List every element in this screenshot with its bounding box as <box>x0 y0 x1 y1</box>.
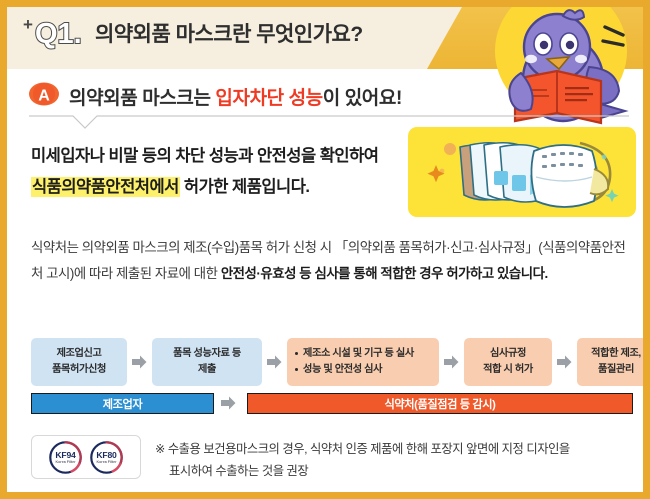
kf-badge-box: KF94 Korea Filter KF80 Korea Filter <box>31 435 141 479</box>
lead-line2-rest: 허가한 제품입니다. <box>180 178 310 196</box>
role-bar-mfds-label: 식약처(품질점검 등 감시) <box>385 396 496 412</box>
infographic-poster: + Q1. 의약외품 마스크란 무엇인가요? A 의약외품 마스크는 입자차단 … <box>0 0 650 499</box>
flow-step-1-line-2: 품목허가신청 <box>52 362 106 378</box>
svg-text:A: A <box>38 88 50 105</box>
flow-step-4: 심사규정 적합 시 허가 <box>464 338 552 386</box>
flow-step-1-line-1: 제조업신고 <box>57 346 102 362</box>
flow-arrow-4-icon <box>557 355 572 369</box>
body-segment-1: 식약처는 의약외품 마스크의 제조(수입)품목 허가 신청 시 「의약외품 품목… <box>31 240 538 255</box>
role-bar-mfds: 식약처(품질점검 등 감시) <box>247 393 633 414</box>
lead-paragraph: 미세입자나 비말 등의 차단 성능과 안전성을 확인하여 식품의약품안전처에서 … <box>31 141 401 202</box>
answer-badge-icon: A <box>29 79 59 109</box>
flow-step-2-line-2: 제출 <box>198 362 216 378</box>
kf80-sublabel: Korea Filter <box>97 460 117 464</box>
footnote-line-2: 표시하여 수출하는 것을 권장 <box>155 461 633 483</box>
body-segment-3: 안전성·유효성 등 심사를 통해 적합한 경우 허가하고 있습니다. <box>221 266 548 281</box>
role-arrow-icon <box>221 396 236 410</box>
flow-step-3-bullet-2: 성능 및 안전성 심사 <box>295 362 382 378</box>
mask-layers-icon <box>408 127 636 217</box>
answer-text-highlight: 입자차단 성능 <box>215 88 322 109</box>
kf80-badge-icon: KF80 Korea Filter <box>90 441 123 474</box>
footnote-text: ※ 수출용 보건용마스크의 경우, 식약처 인증 제품에 한해 포장지 앞면에 … <box>155 439 633 482</box>
answer-text-after: 이 있어요! <box>323 88 402 109</box>
process-flowchart: 제조업신고 품목허가신청 품목 성능자료 등 제출 제조소 시설 및 기구 등 … <box>31 338 633 386</box>
flow-step-5: 적합한 제조, 품질관리 <box>577 338 650 386</box>
flow-step-5-line-2: 품질관리 <box>598 362 634 378</box>
role-bar-manufacturer-label: 제조업자 <box>103 396 143 412</box>
flow-arrow-3-icon <box>444 355 459 369</box>
role-bar-manufacturer: 제조업자 <box>31 393 214 414</box>
flow-step-4-line-1: 심사규정 <box>490 346 526 362</box>
flow-arrow-2-icon <box>267 355 282 369</box>
flow-step-3: 제조소 시설 및 기구 등 실사 성능 및 안전성 심사 <box>287 338 439 386</box>
question-number: Q1. <box>35 20 82 49</box>
lead-line1-plain: 미세입자나 비말 등의 <box>31 147 175 165</box>
answer-heading: 의약외품 마스크는 입자차단 성능이 있어요! <box>69 83 402 110</box>
answer-text-before: 의약외품 마스크는 <box>69 88 215 109</box>
flow-step-1: 제조업신고 품목허가신청 <box>31 338 127 386</box>
flow-step-2: 품목 성능자료 등 제출 <box>152 338 262 386</box>
flow-step-5-line-1: 적합한 제조, <box>591 346 641 362</box>
kf94-badge-icon: KF94 Korea Filter <box>49 441 82 474</box>
lead-line1-bold: 차단 성능과 안전성을 확인하여 <box>175 147 378 165</box>
plus-mark-icon: + <box>23 16 33 33</box>
kf94-sublabel: Korea Filter <box>56 460 76 464</box>
question-title: 의약외품 마스크란 무엇인가요? <box>95 23 363 46</box>
flow-step-3-bullet-1: 제조소 시설 및 기구 등 실사 <box>295 346 414 362</box>
flow-arrow-1-icon <box>132 355 147 369</box>
flow-step-4-line-2: 적합 시 허가 <box>483 362 533 378</box>
kf94-label: KF94 <box>55 450 75 460</box>
flow-step-2-line-1: 품목 성능자료 등 <box>173 346 241 362</box>
kf80-label: KF80 <box>96 450 116 460</box>
mask-illustration-box <box>408 127 636 217</box>
footnote-line-1: ※ 수출용 보건용마스크의 경우, 식약처 인증 제품에 한해 포장지 앞면에 … <box>155 442 570 456</box>
body-paragraph: 식약처는 의약외품 마스크의 제조(수입)품목 허가 신청 시 「의약외품 품목… <box>31 235 631 287</box>
lead-line2-marked: 식품의약품안전처에서 <box>31 177 180 197</box>
